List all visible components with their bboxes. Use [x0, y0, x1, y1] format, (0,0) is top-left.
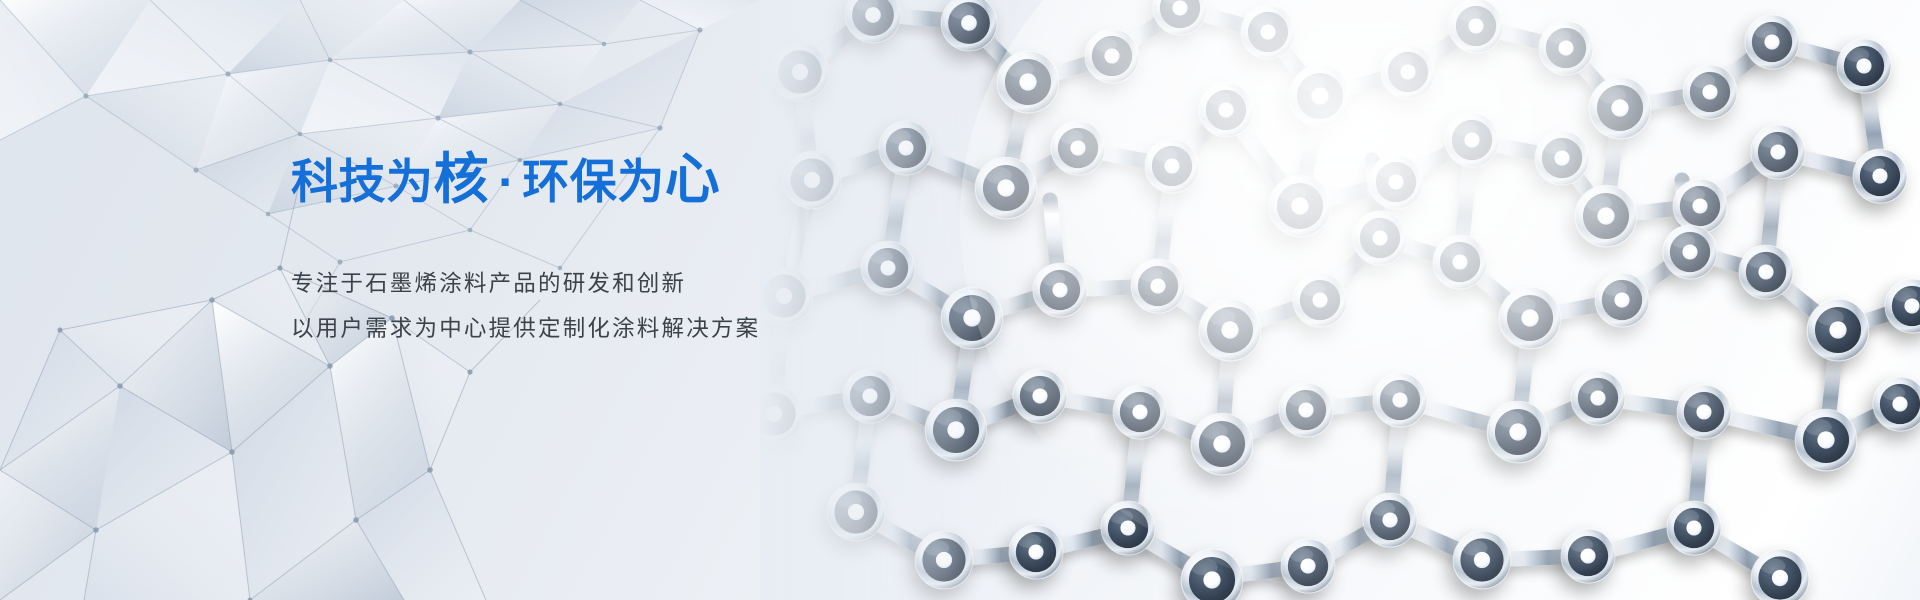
headline-accent-2: 心: [665, 147, 720, 211]
hero-banner: 科技为核·环保为心 专注于石墨烯涂料产品的研发和创新 以用户需求为中心提供定制化…: [0, 0, 1920, 600]
headline-separator: ·: [489, 160, 523, 206]
page-title: 科技为核·环保为心: [291, 148, 1051, 212]
subtitle-line-1: 专注于石墨烯涂料产品的研发和创新: [291, 273, 1051, 296]
hero-copy: 科技为核·环保为心 专注于石墨烯涂料产品的研发和创新 以用户需求为中心提供定制化…: [291, 148, 1051, 341]
subtitle-line-2: 以用户需求为中心提供定制化涂料解决方案: [291, 318, 1051, 341]
headline-part-2: 环保为: [522, 155, 665, 210]
lattice-glow: [960, 0, 1860, 600]
headline-accent-1: 核: [434, 147, 489, 211]
headline-part-1: 科技为: [291, 155, 434, 210]
